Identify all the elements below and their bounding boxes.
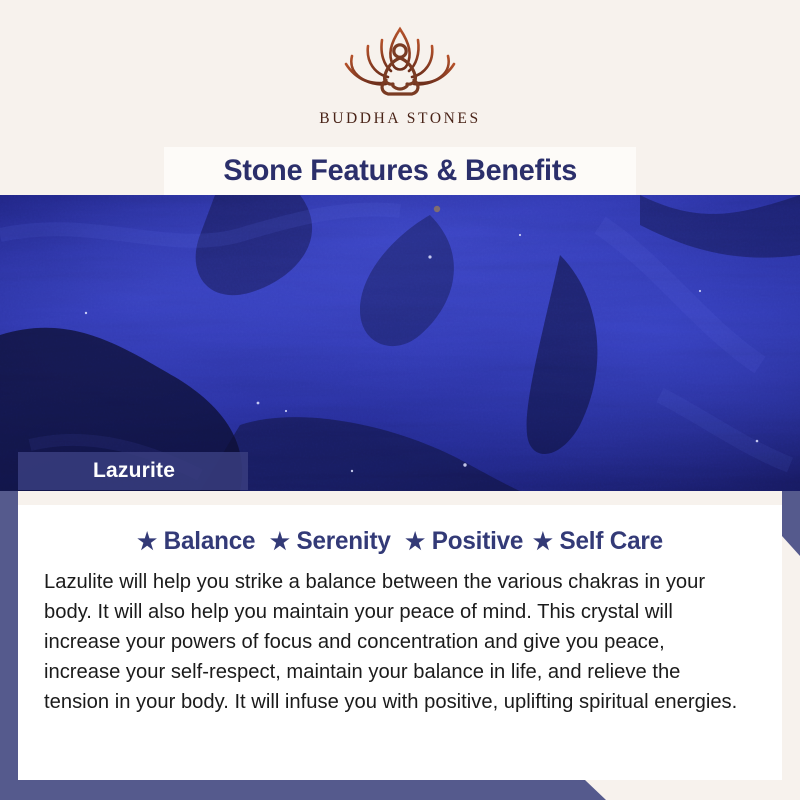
benefit-self-care: Self Care	[560, 527, 663, 556]
stone-name-banner: Lazurite	[18, 452, 248, 490]
star-icon: ★	[137, 530, 157, 553]
benefit-positive: Positive	[432, 527, 523, 556]
star-icon: ★	[533, 530, 553, 553]
description-text: Lazulite will help you strike a balance …	[44, 567, 745, 717]
star-icon: ★	[405, 530, 425, 553]
brand-logo: BUDDHA STONES	[0, 22, 800, 128]
decor-bottom-bar	[0, 780, 800, 800]
benefit-balance: Balance	[164, 527, 256, 556]
benefit-serenity: Serenity	[296, 527, 390, 556]
benefits-list: ★ Balance ★ Serenity ★ Positive ★ Self C…	[55, 527, 746, 556]
decor-left-bar	[0, 490, 18, 800]
content-panel: ★ Balance ★ Serenity ★ Positive ★ Self C…	[18, 505, 782, 780]
stone-name: Lazurite	[93, 459, 175, 483]
description-paragraph: Lazulite will help you strike a balance …	[44, 567, 745, 717]
stone-photo	[0, 195, 800, 491]
infographic-card: BUDDHA STONES Stone Features & Benefits	[0, 0, 800, 800]
star-icon: ★	[270, 530, 290, 553]
title-strip: Stone Features & Benefits	[164, 147, 636, 195]
page-title: Stone Features & Benefits	[223, 154, 577, 188]
lotus-meditation-icon	[330, 22, 470, 104]
brand-name: BUDDHA STONES	[319, 110, 480, 128]
stone-photo-graphic	[0, 195, 800, 491]
